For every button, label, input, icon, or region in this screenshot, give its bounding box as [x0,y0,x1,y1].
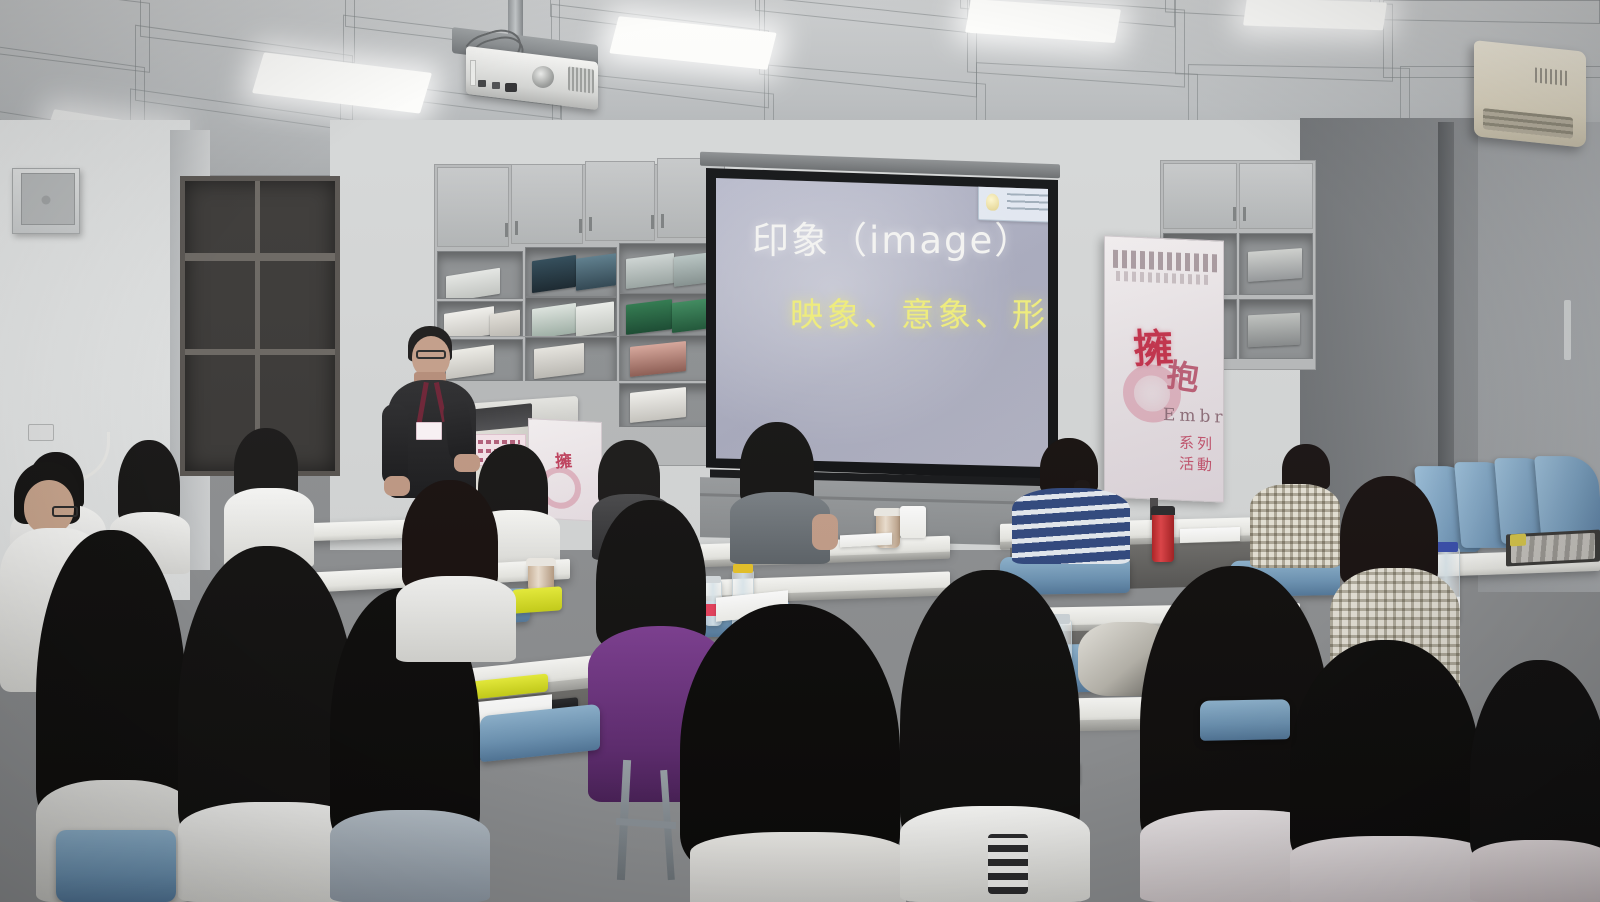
cabinet-door[interactable] [437,167,509,247]
speaker-cone [42,195,51,204]
presenter-arm-left [382,404,408,486]
cabinet-door[interactable] [1163,163,1237,229]
banner-series-label: 系列活動 [1179,432,1223,476]
stacked-blue-chairs[interactable] [1534,456,1600,542]
magazine-shelf [1239,233,1313,295]
lightbulb-icon [986,194,999,211]
ac-vent [1483,108,1573,139]
handout [1180,527,1240,543]
cabinet-door[interactable] [585,161,655,241]
magazine-shelf [437,251,523,299]
banner-subheader-text [1116,271,1213,286]
student-mid-center-gray [730,422,830,562]
projector-vent [568,66,594,93]
magazine-shelf [1239,299,1313,359]
storage-cabinets [434,164,724,340]
projector-lens [532,66,554,88]
presenter-glasses [416,350,446,359]
student-striped-shirt [1012,438,1130,562]
banner-chinese-secondary: 抱 [1165,350,1202,400]
red-thermos [1152,512,1174,562]
cup-lid [874,508,902,516]
ac-brand-label [1535,68,1569,87]
pencil-pouch [512,586,562,613]
magazine-shelf [525,337,617,381]
cup-lid [526,558,556,566]
student-front-left-4 [396,480,516,660]
split-air-conditioner [1474,40,1586,148]
student-front-right-4 [1290,640,1490,902]
chair-front-left[interactable] [56,830,176,902]
slide-callout-box [978,184,1048,224]
student-front-center [680,604,910,902]
cabinet-door[interactable] [1239,163,1313,229]
classroom-photo: 印象（image） 映象、意象、形象 擁 抱 Embrace 系列活動 擁 [0,0,1600,902]
magazine-shelf [525,247,617,297]
banner-header-text [1113,250,1217,273]
presenter-name-badge [416,422,442,440]
ceiling-light-panel [1243,0,1387,30]
student-front-right-5 [1470,660,1600,902]
callout-text-lines [1007,194,1048,214]
student-checkered-shirt [1250,444,1340,566]
cabinet-door[interactable] [511,164,583,244]
bottle-cap [733,564,753,573]
magazine-shelf [525,297,617,341]
student-front-right-1 [900,570,1090,902]
banner-english: Embrace [1163,405,1224,430]
chair-front-right[interactable] [1200,699,1290,741]
wall-speaker [12,168,80,234]
slide-subtitle: 映象、意象、形象 [790,288,1048,336]
paper-bag [900,506,926,538]
thermos-cap [1151,506,1175,515]
